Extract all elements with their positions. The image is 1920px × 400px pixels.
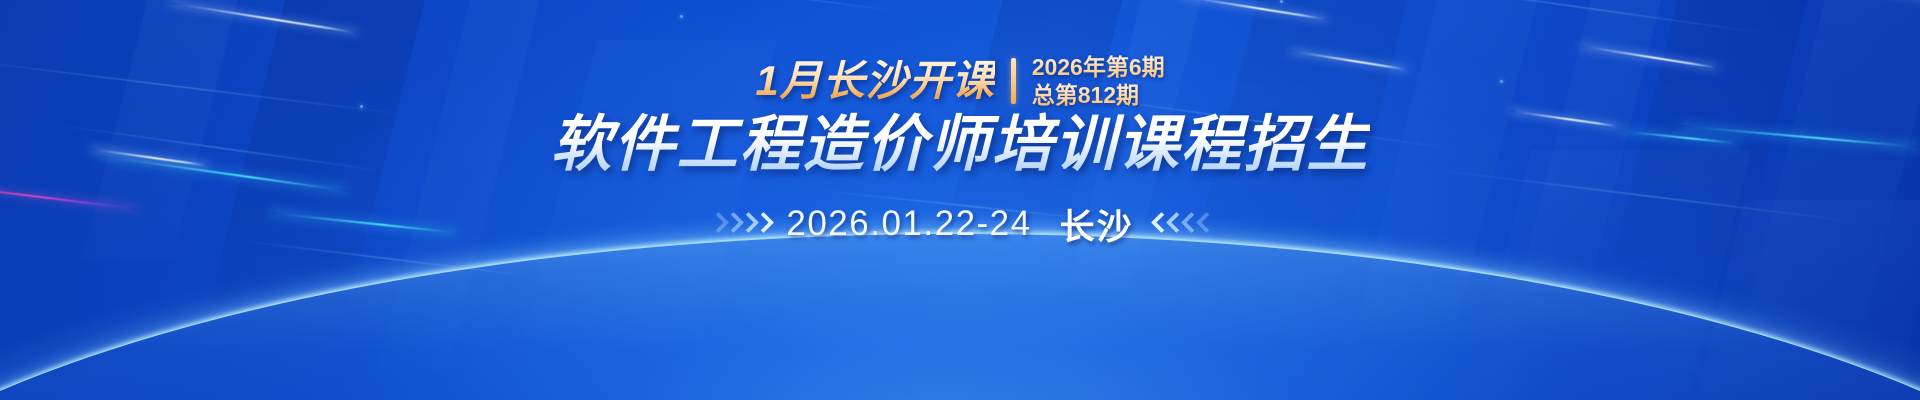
eyebrow-title: 1月长沙开课: [755, 60, 994, 102]
event-city: 长沙: [1060, 199, 1134, 250]
issue-total: 总第812期: [1032, 82, 1165, 109]
issue-year: 2026年第6期: [1032, 54, 1165, 81]
chevron-right-group: [710, 213, 768, 235]
chevron-right-icon: [710, 213, 723, 235]
chevron-left-icon: [1152, 213, 1165, 235]
promo-banner: 1月长沙开课 2026年第6期 总第812期 软件工程造价师培训课程招生 202…: [0, 0, 1920, 400]
eyebrow-divider: [1011, 58, 1016, 104]
chevron-right-icon: [755, 213, 768, 235]
page-title: 软件工程造价师培训课程招生: [550, 112, 1369, 177]
dateline: 2026.01.22-24 长沙: [710, 199, 1209, 250]
event-date: 2026.01.22-24: [786, 204, 1031, 244]
chevron-left-group: [1152, 213, 1210, 235]
chevron-right-icon: [725, 213, 738, 235]
chevron-left-icon: [1167, 213, 1180, 235]
issue-info: 2026年第6期 总第812期: [1032, 54, 1165, 108]
chevron-left-icon: [1197, 213, 1210, 235]
chevron-right-icon: [740, 213, 753, 235]
eyebrow-row: 1月长沙开课 2026年第6期 总第812期: [755, 52, 1164, 110]
banner-content: 1月长沙开课 2026年第6期 总第812期 软件工程造价师培训课程招生 202…: [0, 0, 1920, 400]
chevron-left-icon: [1182, 213, 1195, 235]
